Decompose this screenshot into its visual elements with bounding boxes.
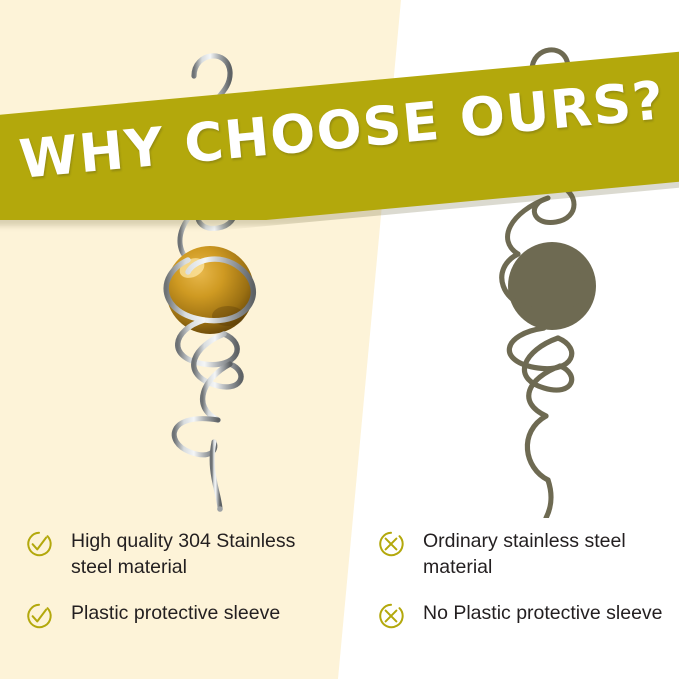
- x-circle-icon: [376, 529, 406, 559]
- check-circle-icon: [24, 529, 54, 559]
- feature-text: High quality 304 Stainless steel materia…: [71, 528, 334, 580]
- feature-text: No Plastic protective sleeve: [423, 600, 663, 626]
- feature-item: High quality 304 Stainless steel materia…: [24, 528, 334, 580]
- banner-title: WHY CHOOSE OURS?: [17, 70, 668, 191]
- feature-list-right: Ordinary stainless steel material No Pla…: [376, 528, 666, 631]
- feature-list-left: High quality 304 Stainless steel materia…: [24, 528, 334, 631]
- feature-item: No Plastic protective sleeve: [376, 600, 666, 631]
- feature-item: Plastic protective sleeve: [24, 600, 334, 631]
- feature-text: Plastic protective sleeve: [71, 600, 280, 626]
- check-circle-icon: [24, 601, 54, 631]
- x-circle-icon: [376, 601, 406, 631]
- feature-item: Ordinary stainless steel material: [376, 528, 666, 580]
- comparison-infographic: WHY CHOOSE OURS? High quality 304 Stainl…: [0, 0, 679, 679]
- feature-text: Ordinary stainless steel material: [423, 528, 666, 580]
